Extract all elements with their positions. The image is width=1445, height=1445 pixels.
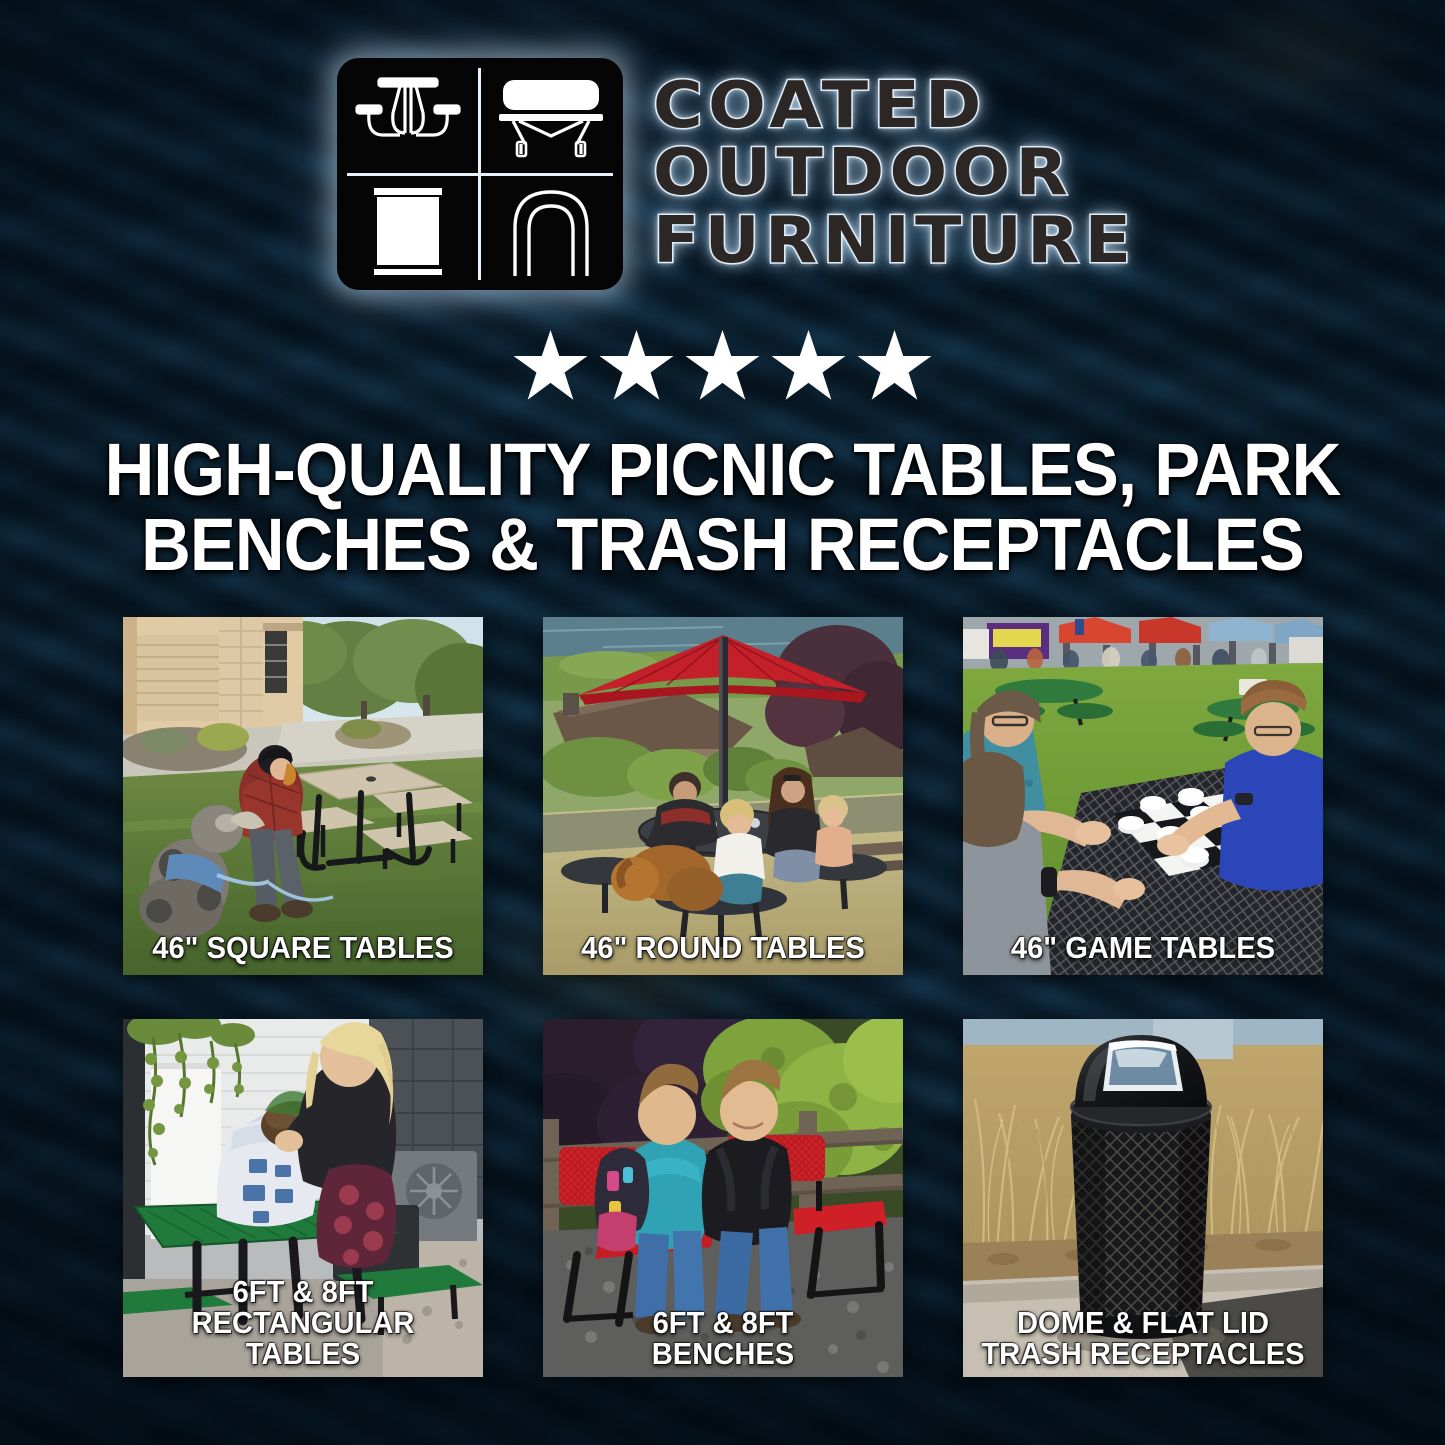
caption-line-1: 46" ROUND TABLES [559,932,886,963]
product-photo-game-tables [963,617,1323,975]
brand-logo: COATED OUTDOOR FURNITURE [0,58,1445,290]
picnic-table-icon [337,58,480,174]
star-icon [600,330,674,404]
star-icon [686,330,760,404]
tile-caption: DOME & FLAT LID TRASH RECEPTACLES [979,1307,1306,1369]
bike-rack-arch-icon [480,174,623,290]
product-grid: 46" SQUARE TABLES [123,617,1323,1377]
star-icon [772,330,846,404]
caption-line-2: RECTANGULAR TABLES [139,1307,466,1369]
tile-caption: 6FT & 8FT RECTANGULAR TABLES [139,1276,466,1369]
caption-line-1: 6FT & 8FT [559,1307,886,1338]
caption-line-1: 46" SQUARE TABLES [139,932,466,963]
product-tile-game-tables[interactable]: 46" GAME TABLES [963,617,1323,975]
product-tile-benches[interactable]: 6FT & 8FT BENCHES [543,1019,903,1377]
caption-line-2: TRASH RECEPTACLES [979,1338,1306,1369]
product-tile-rectangular-tables[interactable]: 6FT & 8FT RECTANGULAR TABLES [123,1019,483,1377]
brand-wordmark: COATED OUTDOOR FURNITURE [653,74,1109,274]
bench-icon [480,58,623,174]
logo-mark-icon-grid [337,58,623,290]
star-icon [514,330,588,404]
caption-line-2: BENCHES [559,1338,886,1369]
headline-line-1: HIGH-QUALITY PICNIC TABLES, PARK [88,432,1357,507]
product-tile-trash-receptacles[interactable]: DOME & FLAT LID TRASH RECEPTACLES [963,1019,1323,1377]
marketing-poster: COATED OUTDOOR FURNITURE HIGH-QUALITY PI… [0,0,1445,1445]
star-rating [0,330,1445,404]
product-tile-round-tables[interactable]: 46" ROUND TABLES [543,617,903,975]
caption-line-1: DOME & FLAT LID [979,1307,1306,1338]
tile-caption: 6FT & 8FT BENCHES [559,1307,886,1369]
headline-line-2: BENCHES & TRASH RECEPTACLES [88,507,1357,582]
product-photo-square-tables [123,617,483,975]
tile-caption: 46" GAME TABLES [979,932,1306,963]
trash-receptacle-icon [337,174,480,290]
product-tile-square-tables[interactable]: 46" SQUARE TABLES [123,617,483,975]
page-title: HIGH-QUALITY PICNIC TABLES, PARK BENCHES… [88,432,1357,583]
tile-caption: 46" ROUND TABLES [559,932,886,963]
tile-caption: 46" SQUARE TABLES [139,932,466,963]
wordmark-line-1: COATED [653,74,1136,139]
caption-line-1: 6FT & 8FT [139,1276,466,1307]
product-photo-round-tables [543,617,903,975]
wordmark-line-2: OUTDOOR [653,141,1136,206]
star-icon [858,330,932,404]
caption-line-1: 46" GAME TABLES [979,932,1306,963]
wordmark-line-3: FURNITURE [653,209,1136,274]
